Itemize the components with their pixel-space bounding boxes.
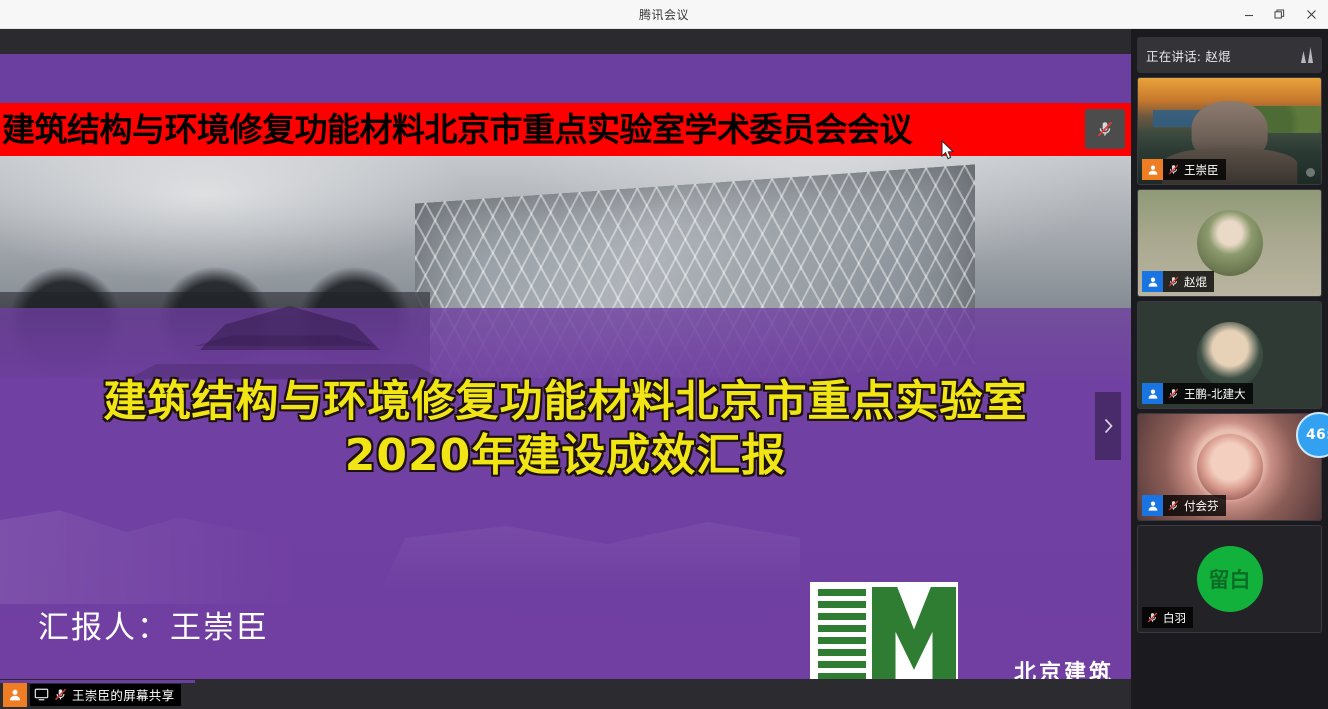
presentation-slide[interactable]: 建筑结构与环境修复功能材料北京市重点实验室 2020年建设成效汇报 汇报人：王崇… <box>0 54 1131 679</box>
person-icon <box>1142 159 1163 180</box>
participant-tile[interactable]: 赵焜 <box>1137 189 1322 297</box>
participant-nameplate: 王鹏-北建大 <box>1142 383 1253 404</box>
person-icon <box>1142 271 1163 292</box>
active-speaker-banner: 正在讲话: 赵焜 <box>1137 37 1322 73</box>
participant-status-dot <box>1306 168 1315 177</box>
minimize-button[interactable] <box>1234 0 1264 29</box>
person-glyph-icon <box>1147 164 1159 176</box>
share-owner-label: 王崇臣的屏幕共享 <box>72 685 174 704</box>
share-accent-bar <box>0 680 195 683</box>
person-glyph-icon <box>8 688 22 702</box>
avatar <box>1197 434 1263 500</box>
slide-title-line1: 建筑结构与环境修复功能材料北京市重点实验室 <box>0 376 1131 429</box>
participant-name: 王鹏-北建大 <box>1184 386 1246 402</box>
slide-title-line2: 2020年建设成效汇报 <box>0 429 1131 484</box>
avatar <box>1197 322 1263 388</box>
participant-tile[interactable]: 留白 白羽 <box>1137 525 1322 633</box>
next-slide-button[interactable] <box>1095 392 1121 460</box>
monitor-icon <box>34 687 49 702</box>
participant-name: 付会芬 <box>1184 498 1219 514</box>
lab-logo-m-glyph <box>872 587 956 679</box>
sound-wave-icon <box>1301 47 1313 63</box>
screen-share-status-bar: 王崇臣的屏幕共享 <box>0 680 1131 709</box>
slide-title-block: 建筑结构与环境修复功能材料北京市重点实验室 2020年建设成效汇报 <box>0 376 1131 484</box>
participant-name-pill: 王鹏-北建大 <box>1163 383 1253 404</box>
participant-nameplate: 付会芬 <box>1142 495 1226 516</box>
participant-tile[interactable]: 王崇臣 <box>1137 77 1322 185</box>
avatar <box>1197 210 1263 276</box>
shared-screen-area[interactable]: 建筑结构与环境修复功能材料北京市重点实验室 2020年建设成效汇报 汇报人：王崇… <box>0 29 1131 709</box>
restore-icon <box>1273 8 1286 21</box>
meeting-stage: 建筑结构与环境修复功能材料北京市重点实验室 2020年建设成效汇报 汇报人：王崇… <box>0 29 1328 709</box>
lab-logo: 建筑结构与环境修复功能材料 北京市重点实验室 <box>810 582 958 679</box>
restore-button[interactable] <box>1264 0 1294 29</box>
person-glyph-icon <box>1147 388 1159 400</box>
minimize-icon <box>1243 9 1255 21</box>
share-status-chip: 王崇臣的屏幕共享 <box>0 680 181 709</box>
microphone-muted-icon <box>1146 611 1159 624</box>
window-title-bar: 腾讯会议 <box>0 0 1328 29</box>
participant-nameplate: 白羽 <box>1142 607 1193 628</box>
participant-name-pill: 付会芬 <box>1163 495 1226 516</box>
microphone-muted-icon <box>1167 499 1180 512</box>
person-icon <box>1142 495 1163 516</box>
banner-mute-button[interactable] <box>1085 109 1125 149</box>
participant-tile[interactable]: 付会芬 <box>1137 413 1322 521</box>
microphone-muted-icon <box>1167 275 1180 288</box>
person-icon <box>3 683 27 707</box>
slide-presenter: 汇报人：王崇臣 <box>38 602 269 647</box>
close-button[interactable] <box>1294 0 1328 29</box>
close-icon <box>1305 8 1318 21</box>
participant-name-pill: 王崇臣 <box>1163 159 1226 180</box>
lab-logo-mark <box>816 587 952 679</box>
participant-name-pill: 白羽 <box>1142 607 1193 628</box>
red-banner-text: 建筑结构与环境修复功能材料北京市重点实验室学术委员会会议 <box>0 113 912 146</box>
participant-nameplate: 赵焜 <box>1142 271 1214 292</box>
window-controls <box>1234 0 1328 29</box>
university-logo: 北京建筑大学 BEIJING UNIVERSITY OF CIVIL ENGIN… <box>965 662 1131 679</box>
red-announcement-banner: 建筑结构与环境修复功能材料北京市重点实验室学术委员会会议 <box>0 103 1131 156</box>
person-glyph-icon <box>1147 276 1159 288</box>
participant-tile[interactable]: 王鹏-北建大 <box>1137 301 1322 409</box>
microphone-muted-icon <box>1095 119 1115 139</box>
avatar: 留白 <box>1197 546 1263 612</box>
participant-name: 白羽 <box>1163 610 1186 626</box>
active-speaker-label: 正在讲话: 赵焜 <box>1146 46 1231 65</box>
person-icon <box>1142 383 1163 404</box>
share-name-pill: 王崇臣的屏幕共享 <box>30 684 181 706</box>
participant-name: 王崇臣 <box>1184 162 1219 178</box>
chevron-right-icon <box>1103 418 1114 434</box>
university-name-cn: 北京建筑大学 <box>1014 662 1131 679</box>
participant-name-pill: 赵焜 <box>1163 271 1214 292</box>
window-title: 腾讯会议 <box>639 6 689 23</box>
university-logo-text: 北京建筑大学 BEIJING UNIVERSITY OF CIVIL ENGIN… <box>1014 662 1131 679</box>
participant-nameplate: 王崇臣 <box>1142 159 1226 180</box>
lab-logo-bars <box>818 589 866 679</box>
microphone-muted-icon <box>53 687 68 702</box>
microphone-muted-icon <box>1167 387 1180 400</box>
participant-name: 赵焜 <box>1184 274 1207 290</box>
microphone-muted-icon <box>1167 163 1180 176</box>
person-glyph-icon <box>1147 500 1159 512</box>
participant-rail[interactable]: 正在讲话: 赵焜 <box>1131 29 1328 709</box>
